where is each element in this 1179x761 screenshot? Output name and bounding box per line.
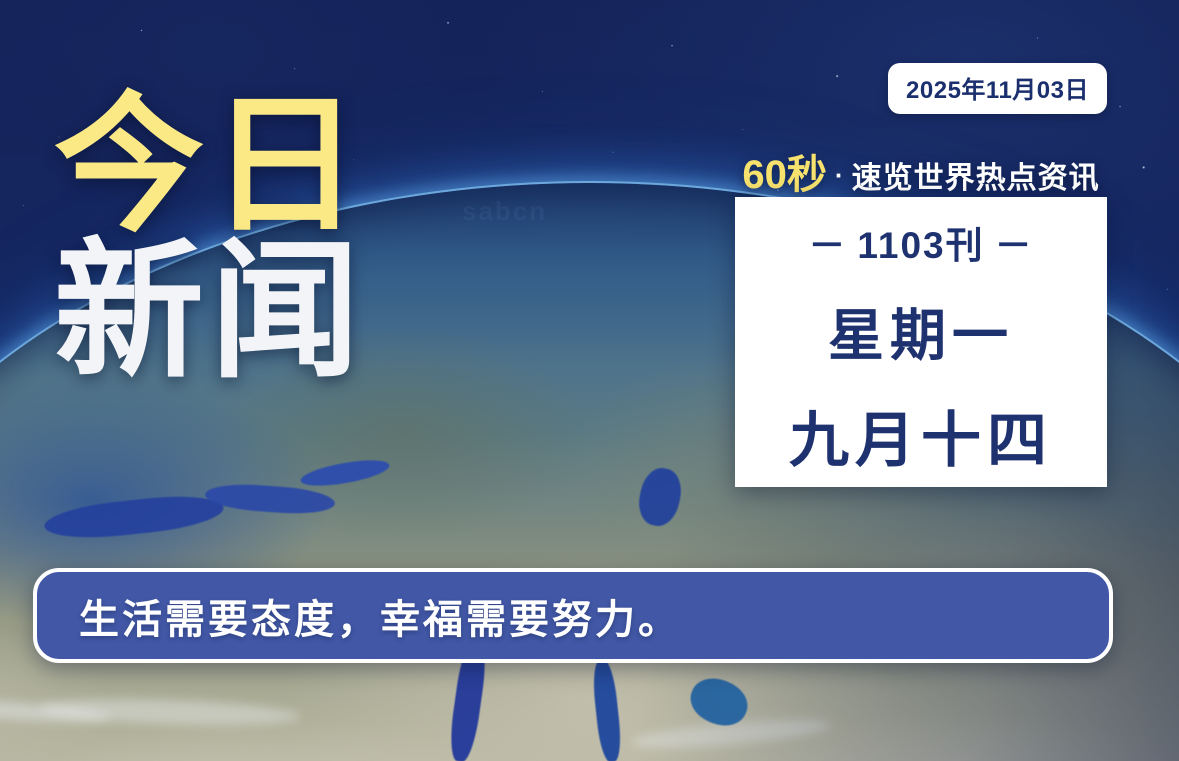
tagline: 60秒 · 速览世界热点资讯 xyxy=(735,142,1107,200)
headline-line-2: 新闻 xyxy=(54,242,474,380)
date-badge: 2025年11月03日 xyxy=(888,63,1107,114)
watermark: sabcn xyxy=(462,196,547,227)
tagline-text: 速览世界热点资讯 xyxy=(852,153,1100,197)
quote-text: 生活需要态度，幸福需要努力。 xyxy=(37,587,681,645)
issue-info-card: －1103刊－ 星期一 九月十四 xyxy=(735,197,1107,487)
weekday-label: 星期一 xyxy=(828,291,1014,372)
issue-dash-right: － xyxy=(985,225,1044,266)
tagline-separator-dot: · xyxy=(833,160,846,191)
issue-number-row: －1103刊－ xyxy=(798,215,1043,269)
issue-dash-left: － xyxy=(798,225,857,266)
issue-number: 1103刊 xyxy=(857,225,984,266)
page-title: 今日 新闻 xyxy=(54,96,474,380)
quote-banner: 生活需要态度，幸福需要努力。 xyxy=(33,568,1113,663)
lunar-date-label: 九月十四 xyxy=(789,392,1053,479)
news-poster: sabcn 今日 新闻 2025年11月03日 60秒 · 速览世界热点资讯 －… xyxy=(0,0,1179,761)
tagline-seconds: 60秒 xyxy=(742,142,827,200)
headline-line-1: 今日 xyxy=(54,96,474,234)
